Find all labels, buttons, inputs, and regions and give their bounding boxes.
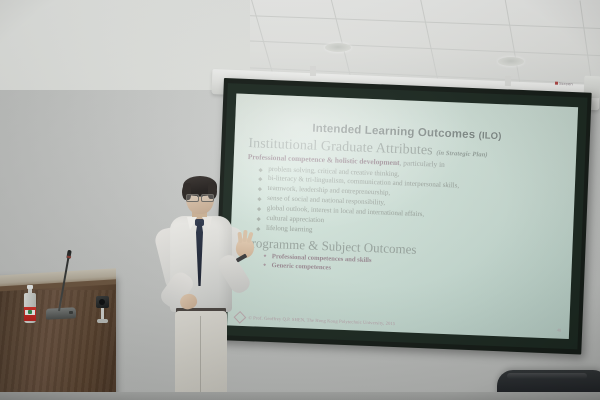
chair-backrest-highlight	[507, 373, 587, 379]
projected-slide: Intended Learning Outcomes (ILO) Institu…	[227, 94, 578, 340]
screen-brand-label: Screen	[559, 81, 573, 87]
eyeglasses-icon	[186, 194, 214, 200]
presenter	[148, 176, 266, 400]
bottle-cap	[27, 285, 33, 289]
camera-lens-icon	[99, 299, 105, 305]
camera-stand-foot	[97, 319, 108, 323]
slide-title-text: Intended Learning Outcomes	[312, 123, 475, 142]
screen-mount-bracket	[505, 76, 511, 86]
projection-screen: Intended Learning Outcomes (ILO) Institu…	[213, 78, 591, 355]
slide-page-number: 48	[557, 328, 562, 333]
slide-title-suffix: (ILO)	[478, 130, 501, 142]
screen-mount-bracket	[310, 66, 316, 76]
lecture-room-photo: Screen Intended Learning Outcomes (ILO) …	[0, 0, 600, 400]
floor	[0, 392, 600, 400]
presenter-trousers	[175, 311, 227, 400]
ceiling-downlight	[498, 57, 524, 66]
slide-section-1-bullets: problem solving, critical and creative t…	[241, 163, 568, 246]
water-bottle	[24, 285, 36, 323]
projection-screen-frame: Intended Learning Outcomes (ILO) Institu…	[218, 83, 588, 349]
slide-copyright: © Prof. Geoffrey Q.P. SHEN, The Hong Kon…	[248, 315, 395, 326]
presenter-trouser-seam	[200, 316, 201, 400]
bottle-logo-icon	[28, 310, 32, 314]
slide-section-1-lead-rest: , particularly in	[399, 158, 445, 169]
ceiling-downlight	[325, 43, 351, 52]
slide-footer: © Prof. Geoffrey Q.P. SHEN, The Hong Kon…	[235, 313, 561, 335]
microphone-red-band	[67, 256, 71, 259]
slide-content: Intended Learning Outcomes (ILO) Institu…	[227, 94, 578, 340]
screen-brand-logo: Screen	[555, 81, 573, 87]
slide-section-1-heading-note: (in Strategic Plan)	[436, 150, 488, 159]
microphone-indicator-led	[69, 311, 73, 314]
